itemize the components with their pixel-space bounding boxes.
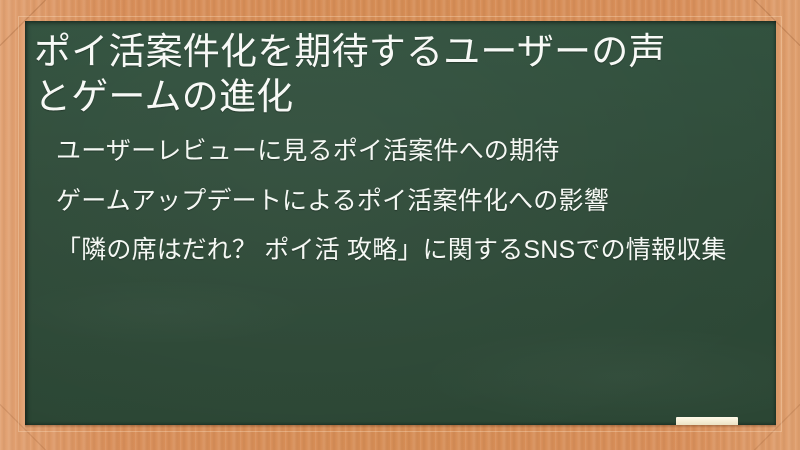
- toc-item-3: 「隣の席はだれ？ ポイ活 攻略」に関するSNSでの情報収集: [34, 234, 758, 267]
- toc-item-1: ユーザーレビューに見るポイ活案件への期待: [34, 135, 758, 168]
- chalk-tray-shadow: [25, 425, 776, 428]
- slide-title: ポイ活案件化を期待するユーザーの声 とゲームの進化: [34, 29, 758, 119]
- toc-item-2: ゲームアップデートによるポイ活案件化への影響: [34, 185, 758, 218]
- blackboard-frame: ポイ活案件化を期待するユーザーの声 とゲームの進化 ユーザーレビューに見るポイ活…: [0, 0, 800, 450]
- board-content: ポイ活案件化を期待するユーザーの声 とゲームの進化 ユーザーレビューに見るポイ活…: [25, 21, 776, 425]
- chalkboard-surface: ポイ活案件化を期待するユーザーの声 とゲームの進化 ユーザーレビューに見るポイ活…: [25, 21, 776, 425]
- chalk-stick: [676, 417, 738, 425]
- table-of-contents: ユーザーレビューに見るポイ活案件への期待 ゲームアップデートによるポイ活案件化へ…: [34, 135, 758, 267]
